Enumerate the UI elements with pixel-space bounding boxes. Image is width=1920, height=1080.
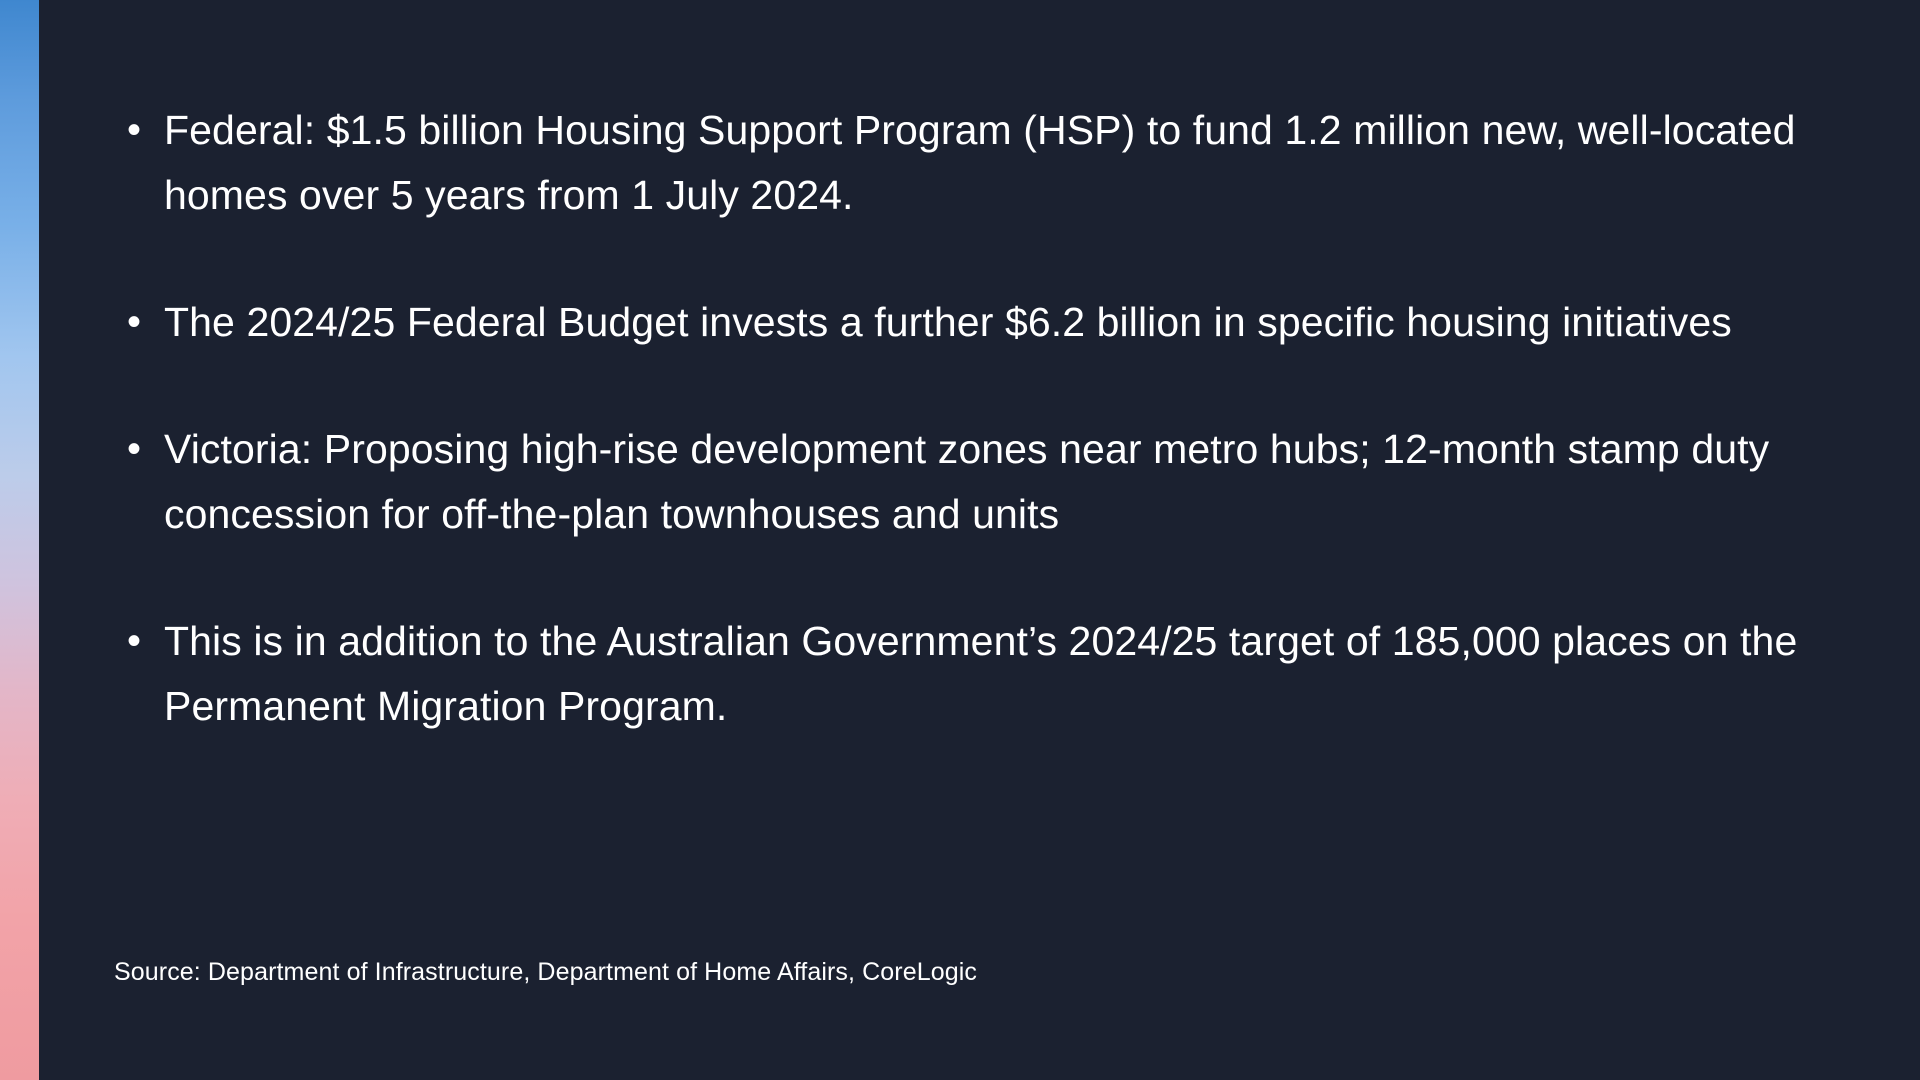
bullet-point-icon: •	[114, 98, 164, 163]
bullet-list: • Federal: $1.5 billion Housing Support …	[114, 98, 1854, 739]
list-item: • Victoria: Proposing high-rise developm…	[114, 417, 1854, 547]
list-item: • This is in addition to the Australian …	[114, 609, 1854, 739]
list-item-text: This is in addition to the Australian Go…	[164, 609, 1854, 739]
slide-content-area: • Federal: $1.5 billion Housing Support …	[39, 0, 1920, 1080]
bullet-point-icon: •	[114, 609, 164, 674]
bullet-point-icon: •	[114, 417, 164, 482]
bullet-point-icon: •	[114, 290, 164, 355]
list-item-text: The 2024/25 Federal Budget invests a fur…	[164, 290, 1854, 355]
list-item-text: Victoria: Proposing high-rise developmen…	[164, 417, 1854, 547]
list-item-text: Federal: $1.5 billion Housing Support Pr…	[164, 98, 1854, 228]
source-citation: Source: Department of Infrastructure, De…	[114, 955, 977, 989]
list-item: • The 2024/25 Federal Budget invests a f…	[114, 290, 1854, 355]
slide-canvas: • Federal: $1.5 billion Housing Support …	[0, 0, 1920, 1080]
list-item: • Federal: $1.5 billion Housing Support …	[114, 98, 1854, 228]
left-gradient-accent-bar	[0, 0, 39, 1080]
